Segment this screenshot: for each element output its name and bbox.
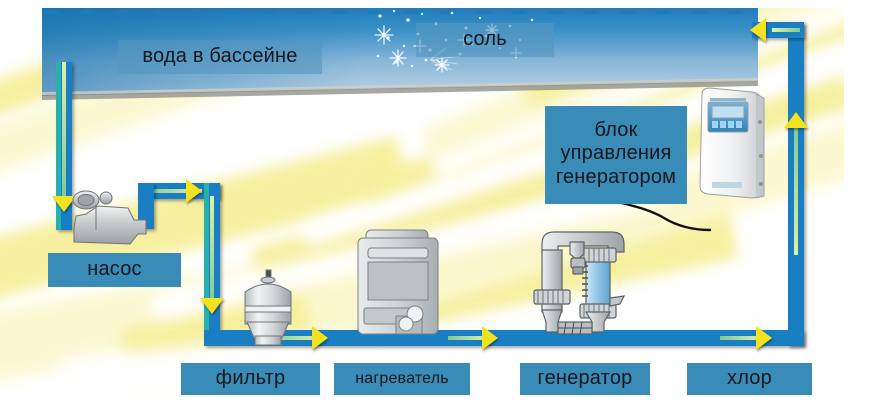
label-pool-water: вода в бассейне [118, 40, 322, 74]
label-pump-text: насос [87, 258, 142, 282]
flow-arrow-right-heater-out [482, 326, 498, 350]
pipe-flow-stripe [794, 125, 798, 255]
label-pump: насос [48, 253, 181, 287]
label-filter-text: фильтр [216, 367, 286, 391]
flow-arrow-right-pump [186, 179, 202, 203]
label-pool-water-text: вода в бассейне [142, 45, 297, 69]
pipe-flow-stripe [62, 62, 66, 200]
label-filter: фильтр [181, 363, 320, 395]
flow-arrow-right-generator-out [756, 326, 772, 350]
label-salt-text: соль [463, 28, 507, 52]
salt-cell-generator-icon [528, 222, 662, 338]
pipe-teal-highlight [204, 183, 209, 338]
label-chlorine: хлор [687, 363, 812, 395]
control-panel-icon [694, 86, 770, 204]
label-control-unit-line2: управления [560, 142, 671, 166]
label-generator: генератор [520, 363, 650, 395]
label-chlorine-text: хлор [727, 367, 772, 391]
label-salt: соль [416, 23, 554, 57]
pipe-flow-stripe [210, 196, 214, 304]
flow-arrow-down-to-filter [200, 298, 224, 314]
heater-icon [352, 228, 448, 338]
pipe-flow-stripe [772, 28, 800, 32]
flow-arrow-up-riser [784, 112, 808, 128]
water-surface-waves [42, 2, 758, 14]
filter-tank-icon [232, 268, 306, 346]
label-heater: нагреватель [334, 363, 470, 395]
label-control-unit-line3: генератором [556, 166, 676, 190]
flow-arrow-right-filter-out [312, 326, 328, 350]
pump-icon [68, 186, 152, 248]
label-control-unit: блок управления генератором [545, 106, 687, 204]
diagram-canvas: вода в бассейне соль блок управления ген… [0, 0, 870, 400]
label-generator-text: генератор [538, 367, 633, 391]
label-control-unit-line1: блок [594, 119, 637, 143]
flow-arrow-left-into-pool [750, 18, 766, 42]
label-heater-text: нагреватель [355, 370, 449, 389]
